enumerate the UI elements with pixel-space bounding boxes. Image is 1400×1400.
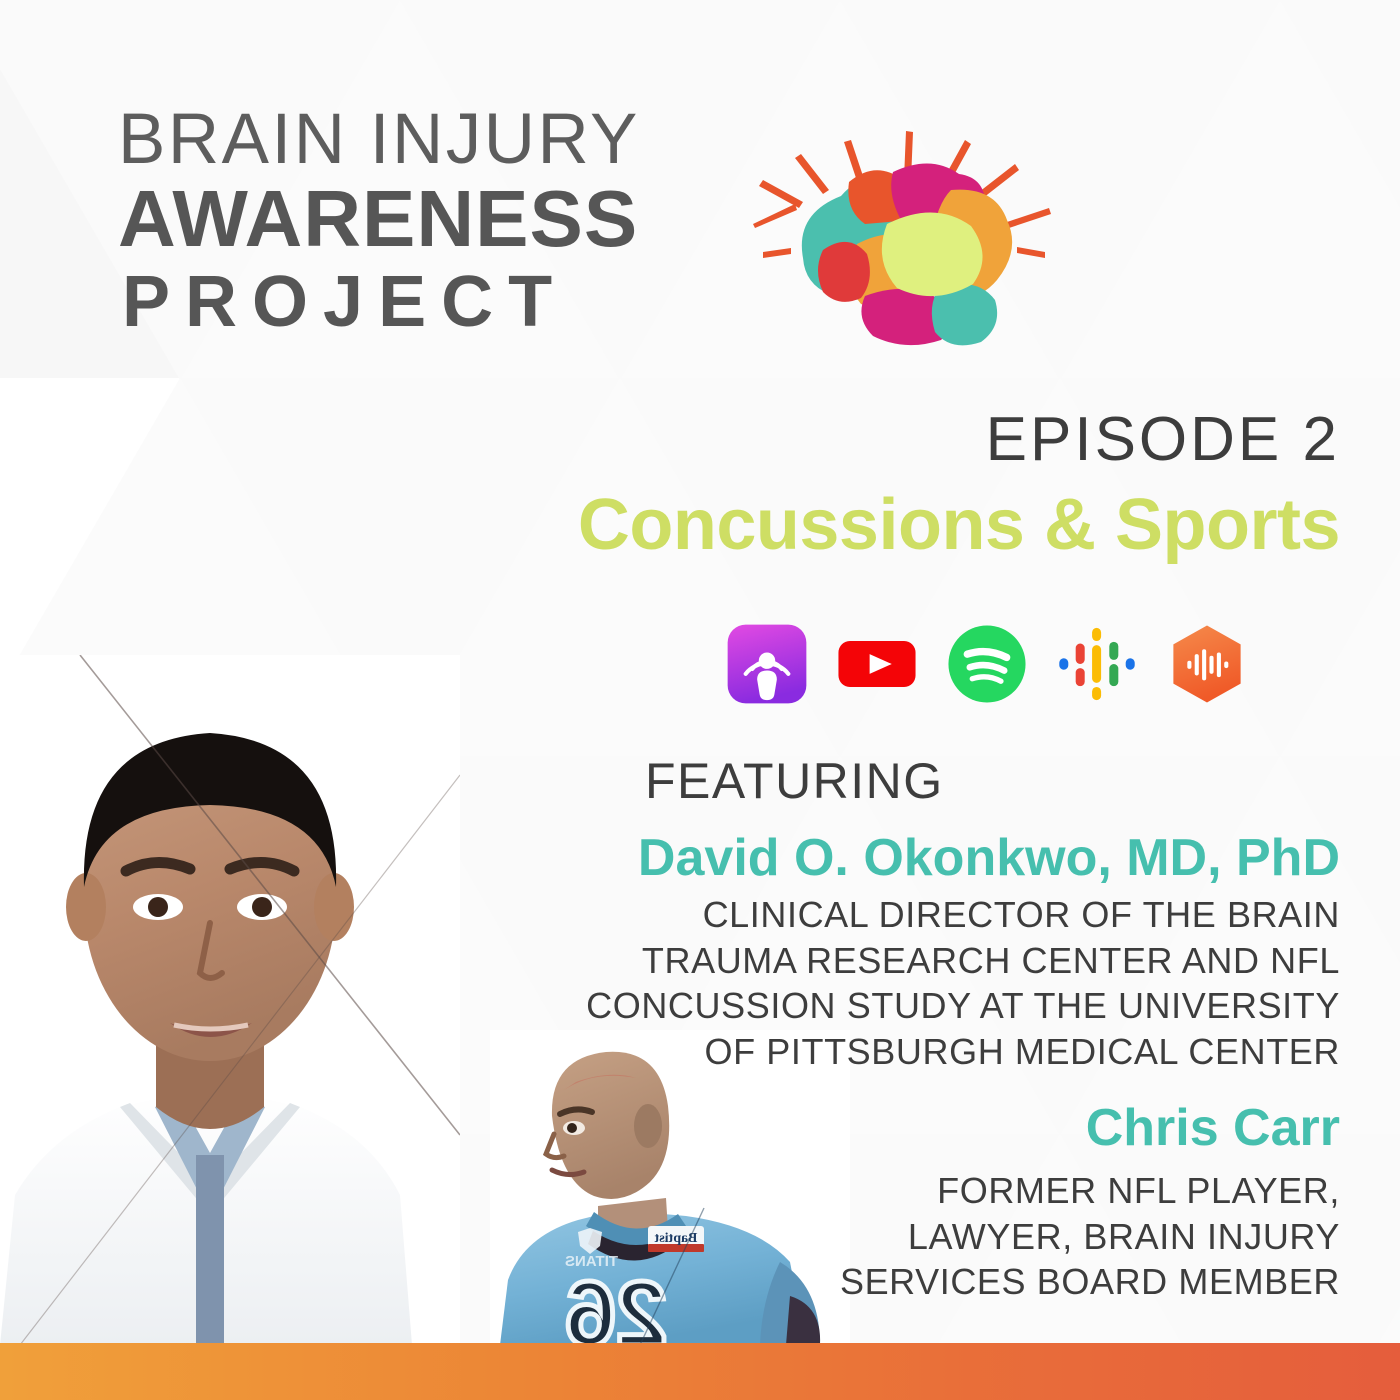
spotify-icon[interactable] xyxy=(946,623,1028,705)
youtube-icon[interactable] xyxy=(836,623,918,705)
brand-line-3: PROJECT xyxy=(122,266,738,338)
podcast-episode-cover: TITANS Baptist 26 BRAIN INJURY AWARENESS… xyxy=(0,0,1400,1400)
bottom-gradient-bar xyxy=(0,1343,1400,1400)
episode-title: Concussions & Sports xyxy=(578,484,1340,566)
episode-number: EPISODE 2 xyxy=(986,404,1340,475)
guest-photo-doctor xyxy=(0,655,460,1345)
brand-line-2: AWARENESS xyxy=(118,177,738,260)
guest-1-bio: CLINICAL DIRECTOR OF THE BRAIN TRAUMA RE… xyxy=(580,892,1340,1075)
guest-2-name: Chris Carr xyxy=(1086,1098,1340,1158)
google-podcasts-icon[interactable] xyxy=(1056,623,1138,705)
brand-line-1: BRAIN INJURY xyxy=(118,104,738,175)
background-triangle-7 xyxy=(1280,0,1400,380)
guest-2-bio: FORMER NFL PLAYER, LAWYER, BRAIN INJURY … xyxy=(780,1168,1340,1305)
platform-icon-row xyxy=(726,614,1266,714)
guest-1-name: David O. Okonkwo, MD, PhD xyxy=(638,828,1340,888)
castbox-icon[interactable] xyxy=(1166,623,1248,705)
apple-podcasts-icon[interactable] xyxy=(726,623,808,705)
brain-logo-icon xyxy=(745,128,1065,360)
svg-text:26: 26 xyxy=(565,1263,667,1345)
brand-logo-wordmark: BRAIN INJURY AWARENESS PROJECT xyxy=(118,104,738,338)
svg-text:Baptist: Baptist xyxy=(654,1231,697,1246)
featuring-label: FEATURING xyxy=(645,752,944,810)
